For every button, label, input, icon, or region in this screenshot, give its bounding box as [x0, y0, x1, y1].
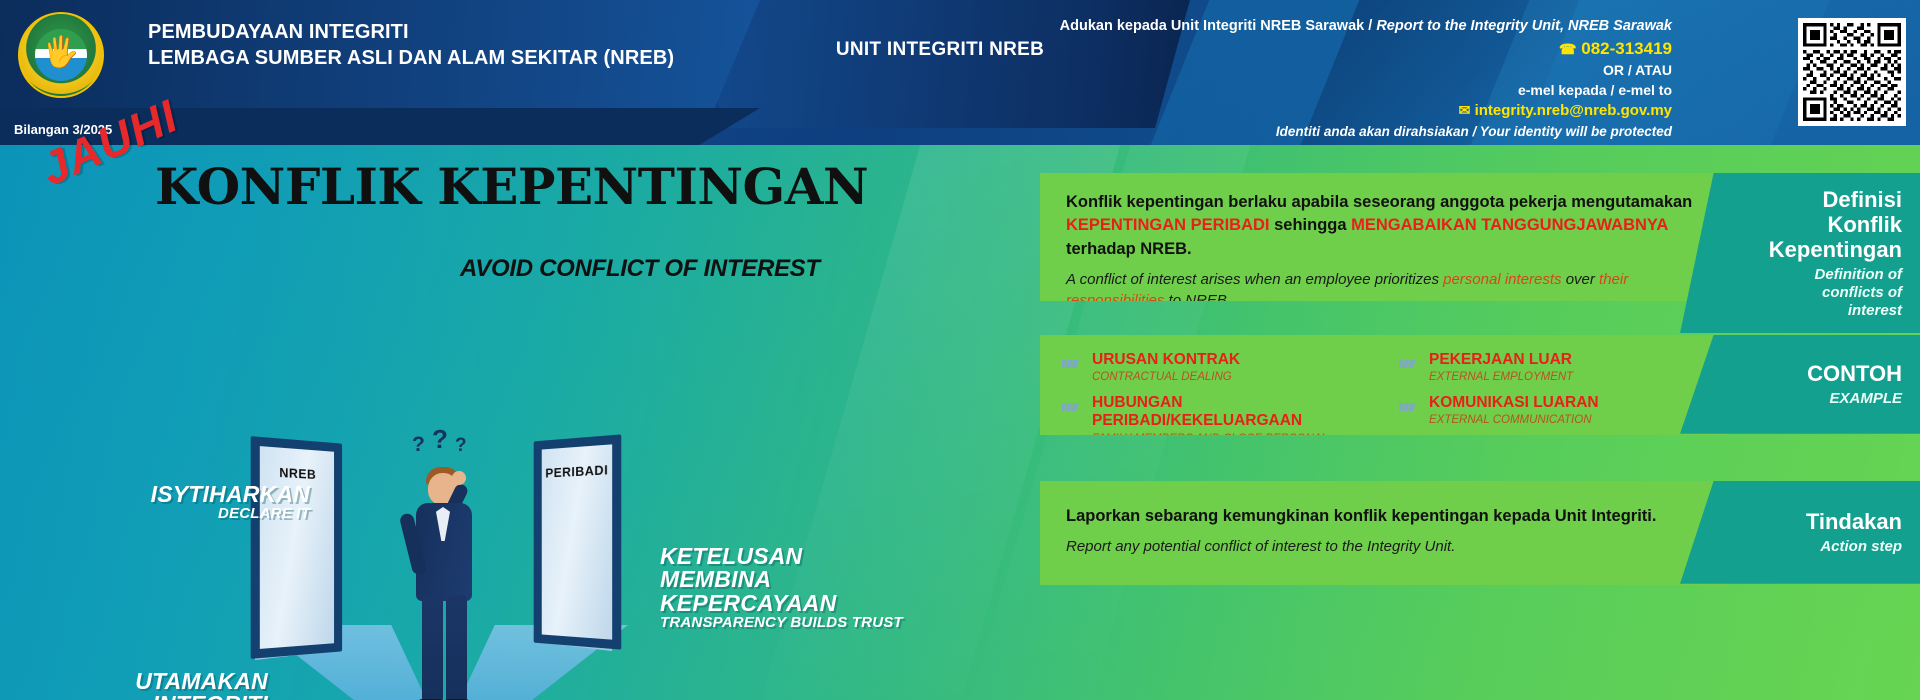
- tab-action-ms: Tindakan: [1726, 509, 1902, 534]
- tab-definition-ms-1: Definisi: [1726, 187, 1902, 212]
- privacy-note: Identiti anda akan dirahsiakan / Your id…: [972, 122, 1672, 141]
- example-item-4: KOMUNIKASI LUARAN EXTERNAL COMMUNICATION: [1399, 394, 1714, 460]
- phone-number[interactable]: 082-313419: [1581, 39, 1672, 58]
- report-separator: /: [1368, 18, 1372, 34]
- org-title-line1: PEMBUDAYAAN INTEGRITI: [148, 20, 708, 46]
- callout-integrity-ms: UTAMAKAN INTEGRITI: [38, 670, 268, 700]
- figure-hand: [452, 471, 466, 485]
- callout-integrity: UTAMAKAN INTEGRITI INTEGRITY FIRST: [38, 670, 268, 700]
- example-item-4-en: EXTERNAL COMMUNICATION: [1429, 414, 1599, 428]
- chevrons-icon: [1062, 356, 1084, 374]
- example-item-2-en: EXTERNAL EMPLOYMENT: [1429, 371, 1573, 385]
- confused-man-icon: [390, 465, 500, 700]
- example-item-1-en: CONTRACTUAL DEALING: [1092, 371, 1240, 385]
- tab-definition-en-3: interest: [1726, 302, 1902, 320]
- or-label: OR / ATAU: [972, 61, 1672, 81]
- example-item-4-ms: KOMUNIKASI LUARAN: [1429, 394, 1599, 411]
- callout-transparency-ms-1: KETELUSAN MEMBINA: [660, 545, 920, 592]
- tab-definition-shape: Definisi Konflik Kepentingan Definition …: [1680, 173, 1920, 333]
- action-card: Laporkan sebarang kemungkinan konflik ke…: [1040, 481, 1740, 585]
- phone-icon: ☎: [1559, 41, 1576, 57]
- callout-transparency: KETELUSAN MEMBINA KEPERCAYAAN TRANSPAREN…: [660, 545, 920, 631]
- example-card: URUSAN KONTRAK CONTRACTUAL DEALING PEKER…: [1040, 335, 1740, 435]
- chevrons-icon: [1399, 399, 1421, 417]
- definition-en-part1: A conflict of interest arises when an em…: [1066, 271, 1443, 288]
- definition-ms-highlight1: KEPENTINGAN PERIBADI: [1066, 216, 1270, 234]
- tab-definition-en-2: conflicts of: [1726, 284, 1902, 302]
- action-text-en: Report any potential conflict of interes…: [1066, 538, 1714, 555]
- tab-example-ms: CONTOH: [1726, 361, 1902, 386]
- nreb-logo-icon: 🖐: [18, 12, 104, 98]
- definition-ms-highlight2: MENGABAIKAN TANGGUNGJAWABNYA: [1351, 216, 1668, 234]
- illustration: NREB PERIBADI ? ? ? ISYTIHARKAN DECLARE …: [0, 145, 850, 700]
- tab-definition-ms-2: Konflik: [1726, 212, 1902, 237]
- example-item-3: HUBUNGAN PERIBADI/KEKELUARGAAN FAMILY ME…: [1062, 394, 1377, 460]
- definition-ms-part2: sehingga: [1270, 216, 1352, 234]
- question-mark-icon-3: ?: [455, 435, 467, 457]
- tab-definition-en: Definition of conflicts of interest: [1726, 266, 1902, 319]
- callout-declare-en: DECLARE IT: [110, 506, 310, 521]
- figure-leg-left: [422, 595, 443, 700]
- page-header: 🖐 PEMBUDAYAAN INTEGRITI LEMBAGA SUMBER A…: [0, 0, 1920, 145]
- example-item-3-ms: HUBUNGAN PERIBADI/KEKELUARGAAN: [1092, 394, 1302, 429]
- question-mark-icon-1: ?: [412, 433, 425, 457]
- definition-ms-part3: terhadap NREB.: [1066, 240, 1192, 258]
- action-text-ms: Laporkan sebarang kemungkinan konflik ke…: [1066, 505, 1714, 528]
- door-nreb: NREB: [251, 436, 342, 659]
- chevrons-icon: [1399, 356, 1421, 374]
- example-item-3-en: FAMILY MEMBERS AND CLOSE PERSONAL RELATI…: [1092, 433, 1377, 461]
- figure-leg-right: [446, 595, 467, 700]
- email-row[interactable]: ✉ integrity.nreb@nreb.gov.my: [972, 100, 1672, 121]
- callout-transparency-en: TRANSPARENCY BUILDS TRUST: [660, 615, 920, 630]
- definition-text-ms: Konflik kepentingan berlaku apabila sese…: [1066, 191, 1714, 261]
- door-peribadi: PERIBADI: [534, 434, 622, 649]
- tab-action-en: Action step: [1726, 538, 1902, 556]
- qr-code-icon[interactable]: [1798, 18, 1906, 126]
- definition-en-highlight1: personal interests: [1443, 271, 1561, 288]
- email-address[interactable]: integrity.nreb@nreb.gov.my: [1475, 102, 1672, 119]
- example-item-1-ms: URUSAN KONTRAK: [1092, 351, 1240, 368]
- envelope-icon: ✉: [1459, 102, 1471, 118]
- tab-definition-en-1: Definition of: [1726, 266, 1902, 284]
- content-panels: Konflik kepentingan berlaku apabila sese…: [1040, 145, 1920, 700]
- example-item-1: URUSAN KONTRAK CONTRACTUAL DEALING: [1062, 351, 1377, 385]
- email-label: e-mel kepada / e-mel to: [972, 81, 1672, 101]
- definition-en-part2: over: [1562, 271, 1600, 288]
- definition-en-part3: to NREB.: [1164, 292, 1231, 309]
- report-label-en: Report to the Integrity Unit, NREB Saraw…: [1376, 18, 1672, 34]
- example-item-2: PEKERJAAN LUAR EXTERNAL EMPLOYMENT: [1399, 351, 1714, 385]
- tab-action-shape: Tindakan Action step: [1680, 481, 1920, 584]
- chevrons-icon: [1062, 399, 1084, 417]
- callout-transparency-ms-2: KEPERCAYAAN: [660, 592, 920, 615]
- tab-definition-ms-3: Kepentingan: [1726, 237, 1902, 262]
- definition-ms-part1: Konflik kepentingan berlaku apabila sese…: [1066, 193, 1692, 211]
- phone-row[interactable]: ☎ 082-313419: [972, 37, 1672, 61]
- callout-declare: ISYTIHARKAN DECLARE IT: [110, 483, 310, 522]
- tab-example-en: EXAMPLE: [1726, 390, 1902, 408]
- tab-example-shape: CONTOH EXAMPLE: [1680, 335, 1920, 434]
- tab-definition-ms: Definisi Konflik Kepentingan: [1726, 187, 1902, 262]
- figure-legs: [420, 595, 468, 700]
- report-line: Adukan kepada Unit Integriti NREB Sarawa…: [972, 16, 1672, 37]
- report-label-ms: Adukan kepada Unit Integriti NREB Sarawa…: [1060, 18, 1365, 34]
- definition-text-en: A conflict of interest arises when an em…: [1066, 270, 1714, 311]
- callout-declare-ms: ISYTIHARKAN: [110, 483, 310, 506]
- organisation-title: PEMBUDAYAAN INTEGRITI LEMBAGA SUMBER ASL…: [148, 20, 708, 71]
- example-grid: URUSAN KONTRAK CONTRACTUAL DEALING PEKER…: [1040, 335, 1740, 474]
- contact-block: Adukan kepada Unit Integriti NREB Sarawa…: [972, 16, 1672, 141]
- example-item-2-ms: PEKERJAAN LUAR: [1429, 351, 1572, 368]
- org-title-line2: LEMBAGA SUMBER ASLI DAN ALAM SEKITAR (NR…: [148, 46, 708, 72]
- definition-card: Konflik kepentingan berlaku apabila sese…: [1040, 173, 1740, 301]
- question-mark-icon-2: ?: [432, 424, 448, 455]
